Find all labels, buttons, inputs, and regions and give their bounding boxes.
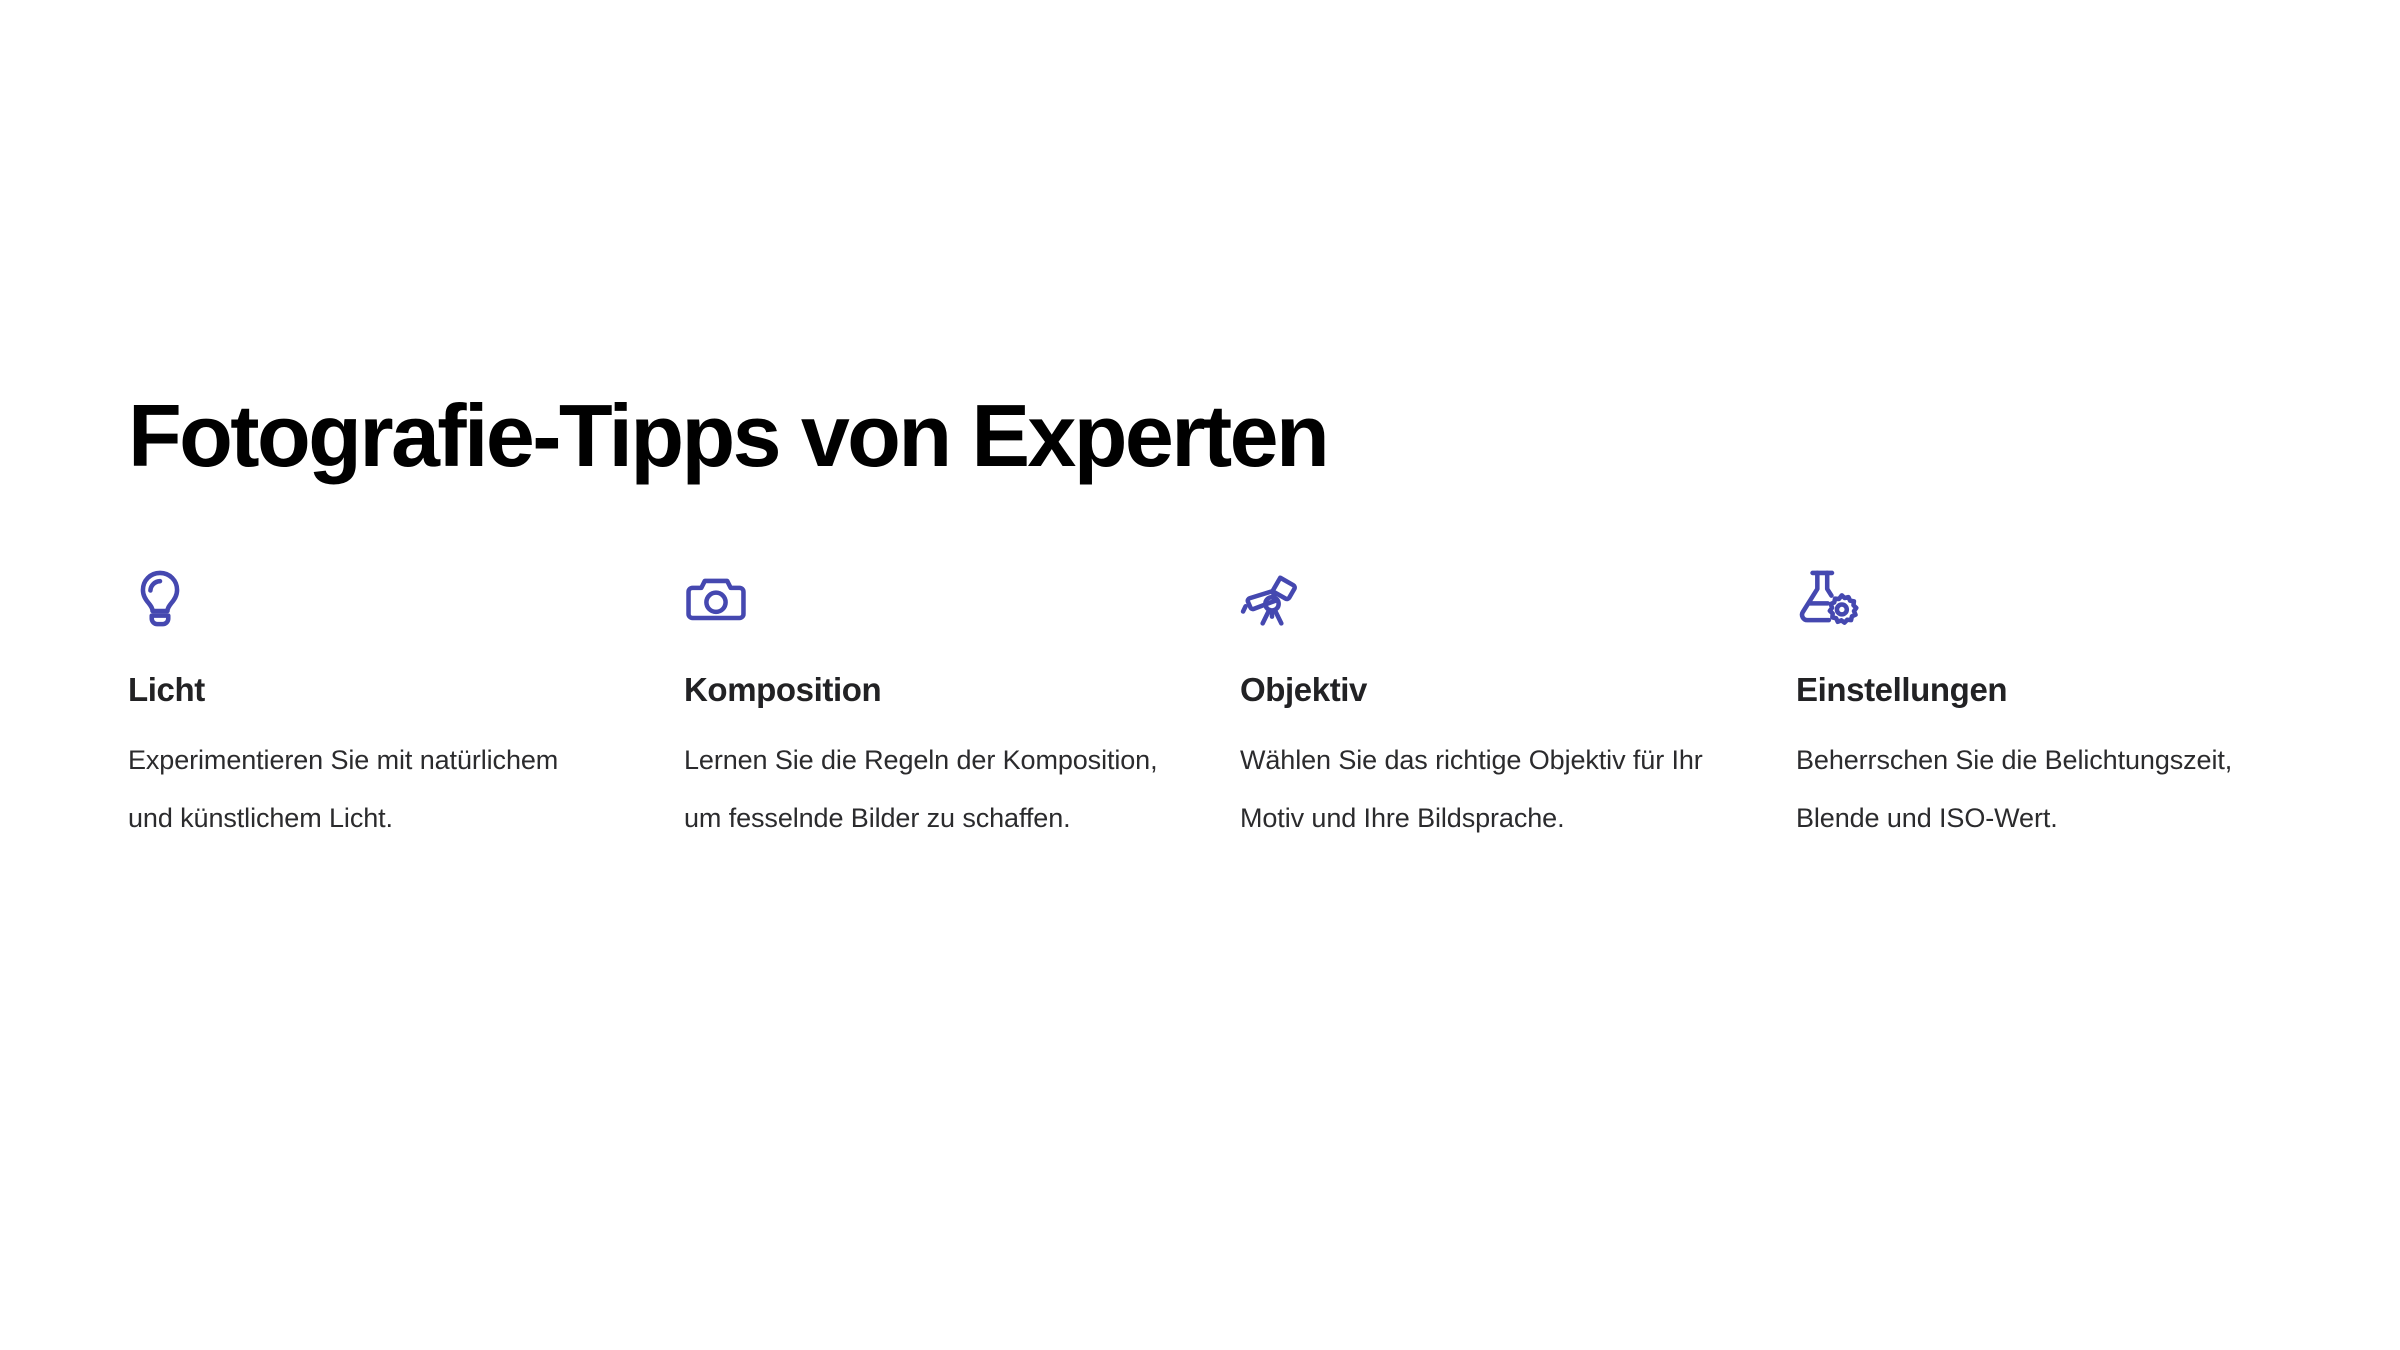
content-container: Fotografie-Tipps von Experten Licht Expe… bbox=[128, 390, 2288, 847]
feature-title: Licht bbox=[128, 671, 628, 709]
feature-card-einstellungen: Einstellungen Beherrschen Sie die Belich… bbox=[1796, 566, 2296, 847]
feature-card-licht: Licht Experimentieren Sie mit natürliche… bbox=[128, 566, 628, 847]
feature-grid: Licht Experimentieren Sie mit natürliche… bbox=[128, 566, 2288, 847]
page-title: Fotografie-Tipps von Experten bbox=[128, 390, 2288, 482]
lightbulb-icon bbox=[128, 566, 192, 630]
feature-description: Lernen Sie die Regeln der Komposition, u… bbox=[684, 731, 1164, 847]
feature-title: Objektiv bbox=[1240, 671, 1740, 709]
feature-card-objektiv: Objektiv Wählen Sie das richtige Objekti… bbox=[1240, 566, 1740, 847]
flask-gear-icon bbox=[1796, 566, 1860, 630]
feature-description: Experimentieren Sie mit natürlichem und … bbox=[128, 731, 608, 847]
feature-title: Komposition bbox=[684, 671, 1184, 709]
feature-card-komposition: Komposition Lernen Sie die Regeln der Ko… bbox=[684, 566, 1184, 847]
photography-tips-page: Fotografie-Tipps von Experten Licht Expe… bbox=[0, 0, 2400, 1350]
feature-description: Beherrschen Sie die Belichtungszeit, Ble… bbox=[1796, 731, 2276, 847]
camera-icon bbox=[684, 566, 748, 630]
feature-description: Wählen Sie das richtige Objektiv für Ihr… bbox=[1240, 731, 1720, 847]
feature-title: Einstellungen bbox=[1796, 671, 2296, 709]
telescope-icon bbox=[1240, 566, 1304, 630]
